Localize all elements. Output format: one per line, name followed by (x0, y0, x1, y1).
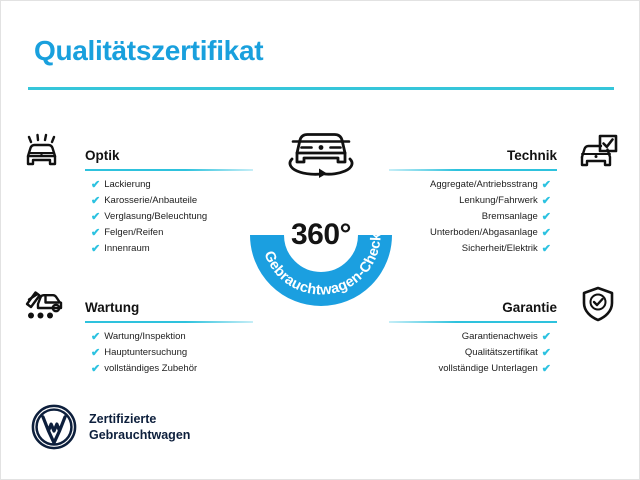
check-icon: ✔ (542, 244, 551, 255)
section-title-garantie: Garantie (502, 300, 557, 315)
column-left: Optik ✔Lackierung ✔Karosserie/Anbauteile… (23, 131, 253, 377)
check-icon: ✔ (91, 196, 100, 207)
section-underline-wartung (85, 321, 253, 323)
list-item: Lenkung/Fahrwerk✔ (389, 193, 551, 209)
check-icon: ✔ (91, 228, 100, 239)
list-item: Qualitätszertifikat✔ (389, 345, 551, 361)
list-item: ✔Felgen/Reifen (91, 225, 253, 241)
vw-logo-icon (31, 404, 77, 450)
section-items-garantie: Garantienachweis✔ Qualitätszertifikat✔ v… (389, 329, 619, 377)
check-icon: ✔ (542, 364, 551, 375)
section-garantie: Garantie Garantienachweis✔ Qualitätszert… (389, 283, 619, 377)
list-item: ✔Innenraum (91, 241, 253, 257)
title-divider (28, 87, 614, 90)
car-rotation-icon (275, 117, 367, 179)
section-title-wartung: Wartung (85, 300, 139, 315)
check-icon: ✔ (542, 196, 551, 207)
check-icon: ✔ (542, 212, 551, 223)
car-service-icon (23, 283, 69, 325)
section-underline-garantie (389, 321, 557, 323)
check-icon: ✔ (91, 348, 100, 359)
list-item: Garantienachweis✔ (389, 329, 551, 345)
section-items-wartung: ✔Wartung/Inspektion ✔Hauptuntersuchung ✔… (23, 329, 253, 377)
section-title-optik: Optik (85, 148, 120, 163)
certificate-page: Qualitätszertifikat (0, 0, 640, 480)
list-item: vollständige Unterlagen✔ (389, 361, 551, 377)
check-icon: ✔ (542, 180, 551, 191)
footer-logo-text: Zertifizierte Gebrauchtwagen (89, 411, 190, 443)
shield-check-icon (573, 283, 619, 325)
section-items-optik: ✔Lackierung ✔Karosserie/Anbauteile ✔Verg… (23, 177, 253, 257)
footer-line-1: Zertifizierte (89, 411, 190, 427)
section-underline-optik (85, 169, 253, 171)
list-item: Bremsanlage✔ (389, 209, 551, 225)
section-underline-technik (389, 169, 557, 171)
section-wartung: Wartung ✔Wartung/Inspektion ✔Hauptunters… (23, 283, 253, 377)
column-right: Technik Aggregate/Antriebsstrang✔ Lenkun… (389, 131, 619, 377)
car-wash-icon (23, 131, 69, 173)
section-optik: Optik ✔Lackierung ✔Karosserie/Anbauteile… (23, 131, 253, 257)
check-icon: ✔ (542, 228, 551, 239)
section-title-technik: Technik (507, 148, 557, 163)
check-icon: ✔ (542, 348, 551, 359)
list-item: ✔Wartung/Inspektion (91, 329, 253, 345)
check-icon: ✔ (91, 364, 100, 375)
section-items-technik: Aggregate/Antriebsstrang✔ Lenkung/Fahrwe… (389, 177, 619, 257)
list-item: ✔vollständiges Zubehör (91, 361, 253, 377)
list-item: ✔Hauptuntersuchung (91, 345, 253, 361)
footer-logo: Zertifizierte Gebrauchtwagen (31, 404, 190, 450)
list-item: ✔Verglasung/Beleuchtung (91, 209, 253, 225)
car-checkbox-icon (573, 131, 619, 173)
check-icon: ✔ (91, 244, 100, 255)
footer-line-2: Gebrauchtwagen (89, 427, 190, 443)
page-title: Qualitätszertifikat (34, 35, 263, 67)
check-icon: ✔ (91, 180, 100, 191)
check-icon: ✔ (542, 332, 551, 343)
list-item: Aggregate/Antriebsstrang✔ (389, 177, 551, 193)
check-icon: ✔ (91, 332, 100, 343)
list-item: ✔Lackierung (91, 177, 253, 193)
list-item: Sicherheit/Elektrik✔ (389, 241, 551, 257)
section-technik: Technik Aggregate/Antriebsstrang✔ Lenkun… (389, 131, 619, 257)
list-item: ✔Karosserie/Anbauteile (91, 193, 253, 209)
badge-360-check: Gebrauchtwagen-Check 360° (237, 151, 405, 319)
list-item: Unterboden/Abgasanlage✔ (389, 225, 551, 241)
check-icon: ✔ (91, 212, 100, 223)
